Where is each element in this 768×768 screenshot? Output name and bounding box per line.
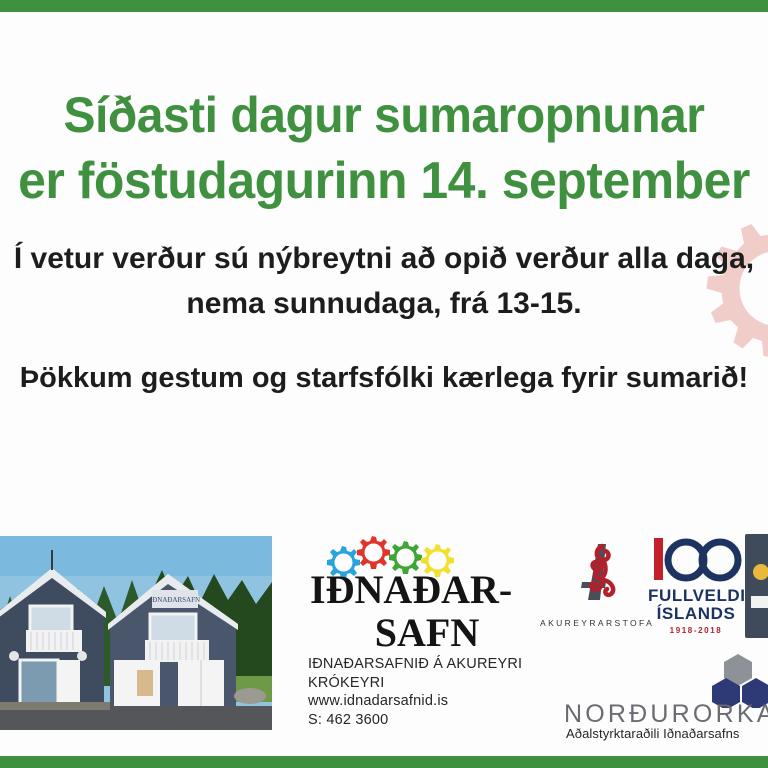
akureyrarstofa-logo: AKUREYRARSTOFA [540, 536, 648, 636]
body-copy: Í vetur verður sú nýbreytni að opið verð… [0, 236, 768, 326]
nordurorka-subtitle: Aðalstyrktaraðili Iðnaðarsafns [566, 726, 740, 741]
nordurorka-logo: NORÐURORKA Aðalstyrktaraðili Iðnaðarsafn… [564, 652, 768, 738]
fullveldi-years: 1918-2018 [648, 626, 744, 635]
fullveldi-line-1: FULLVELDI [648, 586, 744, 606]
partner-logo-clipped [745, 534, 768, 638]
partner-dot-icon [753, 564, 768, 580]
fullveldi-line-2: ÍSLANDS [648, 604, 744, 624]
akureyrarstofa-label: AKUREYRARSTOFA [540, 618, 648, 628]
nordurorka-wordmark: NORÐURORKA [564, 700, 768, 729]
poster-canvas: Síðasti dagur sumaropnunar er föstudagur… [0, 0, 768, 768]
svg-text:IÐNAÐARSAFN: IÐNAÐARSAFN [150, 596, 200, 604]
body-line-1: Í vetur verður sú nýbreytni að opið verð… [0, 236, 768, 281]
contact-line-phone: S: 462 3600 [308, 711, 522, 730]
museum-wordmark-line-1: IÐNAÐAR- [308, 568, 538, 611]
thanks-line: Þökkum gestum og starfsfólki kærlega fyr… [0, 357, 768, 399]
fullveldi-logo: FULLVELDI ÍSLANDS 1918-2018 [648, 534, 744, 642]
contact-block: IÐNAÐARSAFNIÐ Á AKUREYRI KRÓKEYRI www.id… [308, 655, 522, 729]
headline-line-2: er föstudagurinn 14. september [15, 148, 752, 214]
partner-bar-icon [751, 596, 768, 608]
headline-line-1: Síðasti dagur sumaropnunar [15, 82, 752, 148]
contact-line-name: IÐNAÐARSAFNIÐ Á AKUREYRI [308, 655, 522, 674]
body-line-2: nema sunnudaga, frá 13-15. [0, 281, 768, 326]
museum-wordmark-line-2: SAFN [308, 611, 538, 654]
museum-logo: IÐNAÐAR- SAFN [308, 536, 538, 646]
green-rule-top [0, 0, 768, 12]
contact-line-address: KRÓKEYRI [308, 674, 522, 693]
contact-line-website[interactable]: www.idnadarsafnid.is [308, 692, 522, 711]
fullveldi-100-icon [650, 534, 742, 586]
museum-wordmark: IÐNAÐAR- SAFN [308, 568, 538, 654]
green-rule-bottom [0, 756, 768, 768]
headline: Síðasti dagur sumaropnunar er föstudagur… [15, 82, 752, 214]
akureyrarstofa-mark-icon [560, 536, 630, 606]
museum-photo: IÐNAÐARSAFN [0, 536, 272, 730]
